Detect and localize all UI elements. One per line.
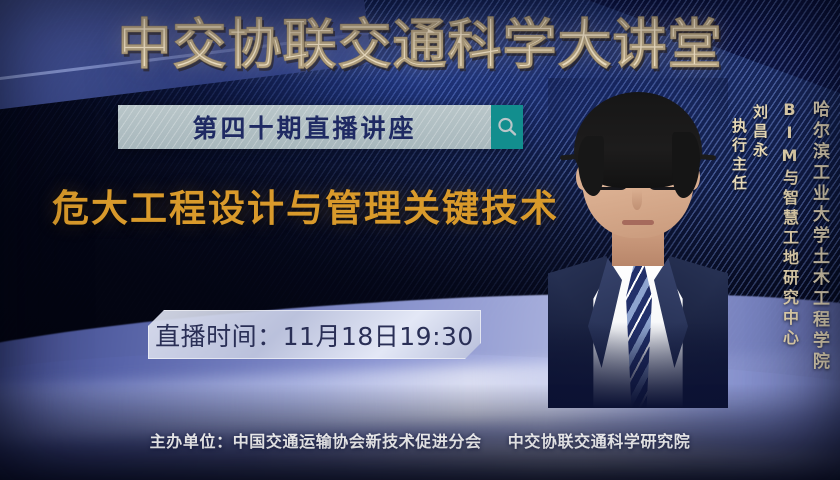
subtitle-label: 第四十期直播讲座	[192, 109, 416, 145]
speaker-portrait	[548, 78, 728, 408]
subtitle-bar: 第四十期直播讲座	[118, 105, 523, 149]
speaker-unit: BIM与智慧工地研究中心	[777, 100, 801, 349]
speaker-credits: 刘昌永 执行主任 BIM与智慧工地研究中心 哈尔滨工业大学土木工程学院	[729, 100, 832, 373]
speaker-name: 刘昌永	[751, 104, 769, 161]
footer-organizers: 主办单位：中国交通运输协会新技术促进分会中交协联交通科学研究院	[0, 428, 840, 452]
lecture-topic: 危大工程设计与管理关键技术	[52, 186, 559, 232]
subtitle-plate: 第四十期直播讲座	[118, 105, 491, 149]
live-time-label: 直播时间：11月18日19:30	[155, 317, 474, 353]
search-icon	[496, 116, 518, 138]
portrait-bottom-fade	[548, 322, 728, 408]
speaker-school: 哈尔滨工业大学土木工程学院	[807, 100, 832, 373]
webinar-poster: 中交协联交通科学大讲堂 第四十期直播讲座 危大工程设计与管理关键技术 直播时间：…	[0, 0, 840, 480]
search-button[interactable]	[491, 105, 523, 149]
footer-organizer-2: 中交协联交通科学研究院	[508, 432, 691, 451]
speaker-name-block: 刘昌永 执行主任	[729, 100, 771, 194]
live-time-badge: 直播时间：11月18日19:30	[148, 310, 481, 359]
speaker-role: 执行主任	[729, 118, 750, 194]
footer-organizer-1: 中国交通运输协会新技术促进分会	[233, 432, 482, 451]
footer-prefix: 主办单位：	[150, 432, 233, 451]
page-title: 中交协联交通科学大讲堂	[0, 14, 840, 76]
